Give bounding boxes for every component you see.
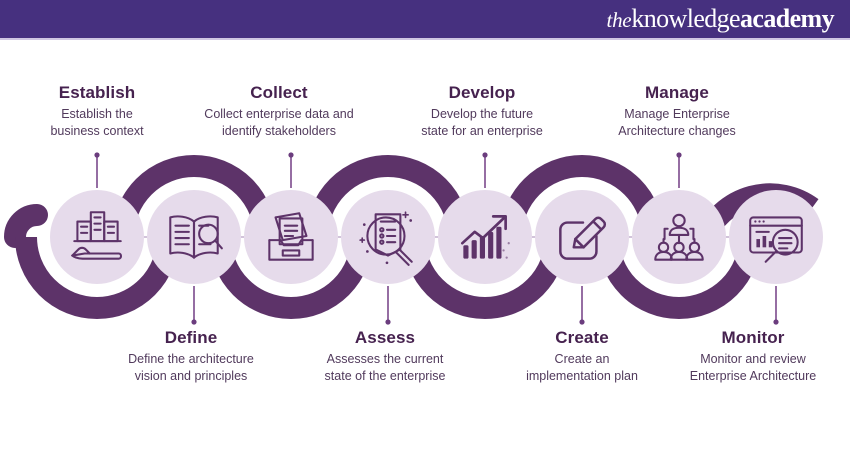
infographic-canvas: theknowledgeacademy bbox=[0, 0, 850, 450]
step-desc-collect-line1: Collect enterprise data and bbox=[204, 107, 353, 121]
step-node-2[interactable] bbox=[147, 190, 241, 284]
step-desc-collect: Collect enterprise data and identify sta… bbox=[179, 106, 379, 139]
step-desc-create-line2: implementation plan bbox=[526, 369, 638, 383]
step-label-monitor: Monitor Monitor and review Enterprise Ar… bbox=[653, 328, 850, 384]
step-desc-monitor-line1: Monitor and review bbox=[700, 352, 806, 366]
step-node-3[interactable] bbox=[244, 190, 338, 284]
step-title-create: Create bbox=[482, 328, 682, 348]
step-desc-manage-line2: Architecture changes bbox=[618, 124, 735, 138]
step-desc-manage: Manage Enterprise Architecture changes bbox=[577, 106, 777, 139]
step-desc-define-line2: vision and principles bbox=[135, 369, 248, 383]
step-desc-assess-line2: state of the enterprise bbox=[325, 369, 446, 383]
step-desc-develop-line1: Develop the future bbox=[431, 107, 533, 121]
step-circle-1 bbox=[50, 190, 144, 284]
step-desc-define-line1: Define the architecture bbox=[128, 352, 254, 366]
step-desc-monitor-line2: Enterprise Architecture bbox=[690, 369, 816, 383]
step-label-collect: Collect Collect enterprise data and iden… bbox=[179, 83, 379, 139]
step-node-4[interactable] bbox=[341, 190, 435, 284]
step-desc-develop-line2: state for an enterprise bbox=[421, 124, 543, 138]
step-label-define: Define Define the architecture vision an… bbox=[91, 328, 291, 384]
step-title-manage: Manage bbox=[577, 83, 777, 103]
step-label-establish: Establish Establish the business context bbox=[0, 83, 197, 139]
step-desc-assess: Assesses the current state of the enterp… bbox=[285, 351, 485, 384]
step-node-1[interactable] bbox=[50, 190, 144, 284]
step-desc-establish: Establish the business context bbox=[0, 106, 197, 139]
step-desc-establish-line2: business context bbox=[50, 124, 143, 138]
step-node-8[interactable] bbox=[729, 190, 823, 284]
step-desc-define: Define the architecture vision and princ… bbox=[91, 351, 291, 384]
step-label-create: Create Create an implementation plan bbox=[482, 328, 682, 384]
step-label-develop: Develop Develop the future state for an … bbox=[382, 83, 582, 139]
step-label-manage: Manage Manage Enterprise Architecture ch… bbox=[577, 83, 777, 139]
step-desc-assess-line1: Assesses the current bbox=[327, 352, 444, 366]
step-circle-6 bbox=[535, 190, 629, 284]
step-label-assess: Assess Assesses the current state of the… bbox=[285, 328, 485, 384]
step-node-6[interactable] bbox=[535, 190, 629, 284]
step-node-5[interactable] bbox=[438, 190, 532, 284]
step-desc-collect-line2: identify stakeholders bbox=[222, 124, 336, 138]
step-desc-create: Create an implementation plan bbox=[482, 351, 682, 384]
step-desc-develop: Develop the future state for an enterpri… bbox=[382, 106, 582, 139]
step-title-assess: Assess bbox=[285, 328, 485, 348]
step-circle-8 bbox=[729, 190, 823, 284]
step-desc-establish-line1: Establish the bbox=[61, 107, 133, 121]
step-title-define: Define bbox=[91, 328, 291, 348]
step-desc-create-line1: Create an bbox=[555, 352, 610, 366]
step-title-develop: Develop bbox=[382, 83, 582, 103]
step-node-7[interactable] bbox=[632, 190, 726, 284]
step-title-collect: Collect bbox=[179, 83, 379, 103]
step-title-monitor: Monitor bbox=[653, 328, 850, 348]
step-title-establish: Establish bbox=[0, 83, 197, 103]
step-desc-monitor: Monitor and review Enterprise Architectu… bbox=[653, 351, 850, 384]
step-desc-manage-line1: Manage Enterprise bbox=[624, 107, 730, 121]
